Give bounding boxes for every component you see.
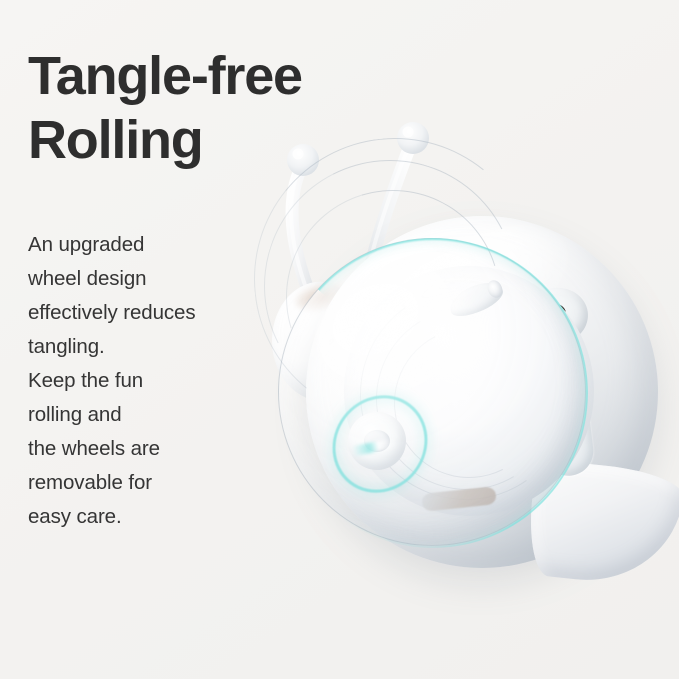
feature-description: An upgraded wheel design effectively red… <box>28 228 278 534</box>
cyan-glow-ring <box>278 238 588 548</box>
feature-panel: Tangle-free Rolling An upgraded wheel de… <box>0 0 679 679</box>
product-illustration <box>248 120 679 620</box>
